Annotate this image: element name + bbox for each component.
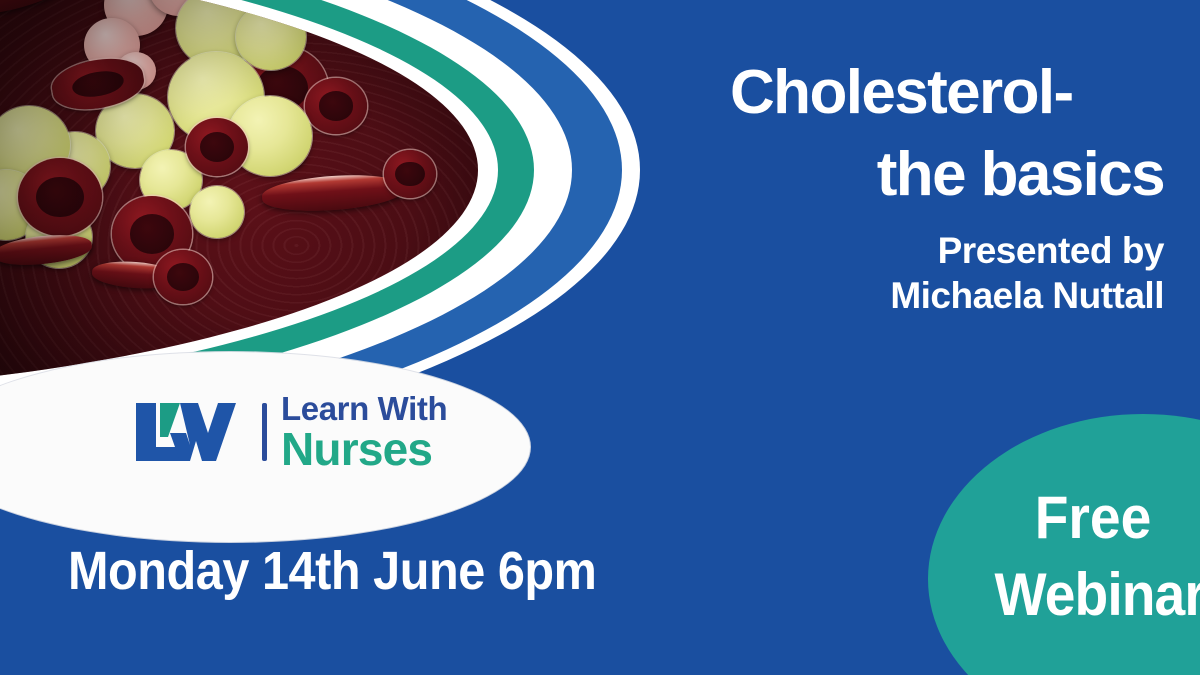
lw-monogram-icon [130, 397, 248, 467]
logo-word-nurses: Nurses [281, 426, 447, 472]
title-line-1: Cholesterol- [730, 62, 1164, 124]
blood-vessel-illustration [0, 0, 478, 396]
badge-line-free: Free [995, 480, 1192, 557]
free-webinar-badge-text: Free Webinar [995, 480, 1192, 634]
webinar-poster: Learn With Nurses Cholesterol- the basic… [0, 0, 1200, 675]
title-line-2: the basics [724, 144, 1164, 206]
vessel-vignette [0, 0, 478, 396]
badge-line-webinar: Webinar [995, 557, 1192, 634]
presented-by-label: Presented by [724, 228, 1164, 273]
logo-divider [262, 403, 267, 461]
headline-block: Cholesterol- the basics Presented by Mic… [724, 62, 1164, 318]
logo-word-learn-with: Learn With [281, 392, 447, 425]
event-date-time: Monday 14th June 6pm [68, 540, 596, 602]
learn-with-nurses-logo: Learn With Nurses [130, 392, 447, 472]
presenter-name: Michaela Nuttall [724, 273, 1164, 318]
logo-wordmark: Learn With Nurses [281, 392, 447, 472]
